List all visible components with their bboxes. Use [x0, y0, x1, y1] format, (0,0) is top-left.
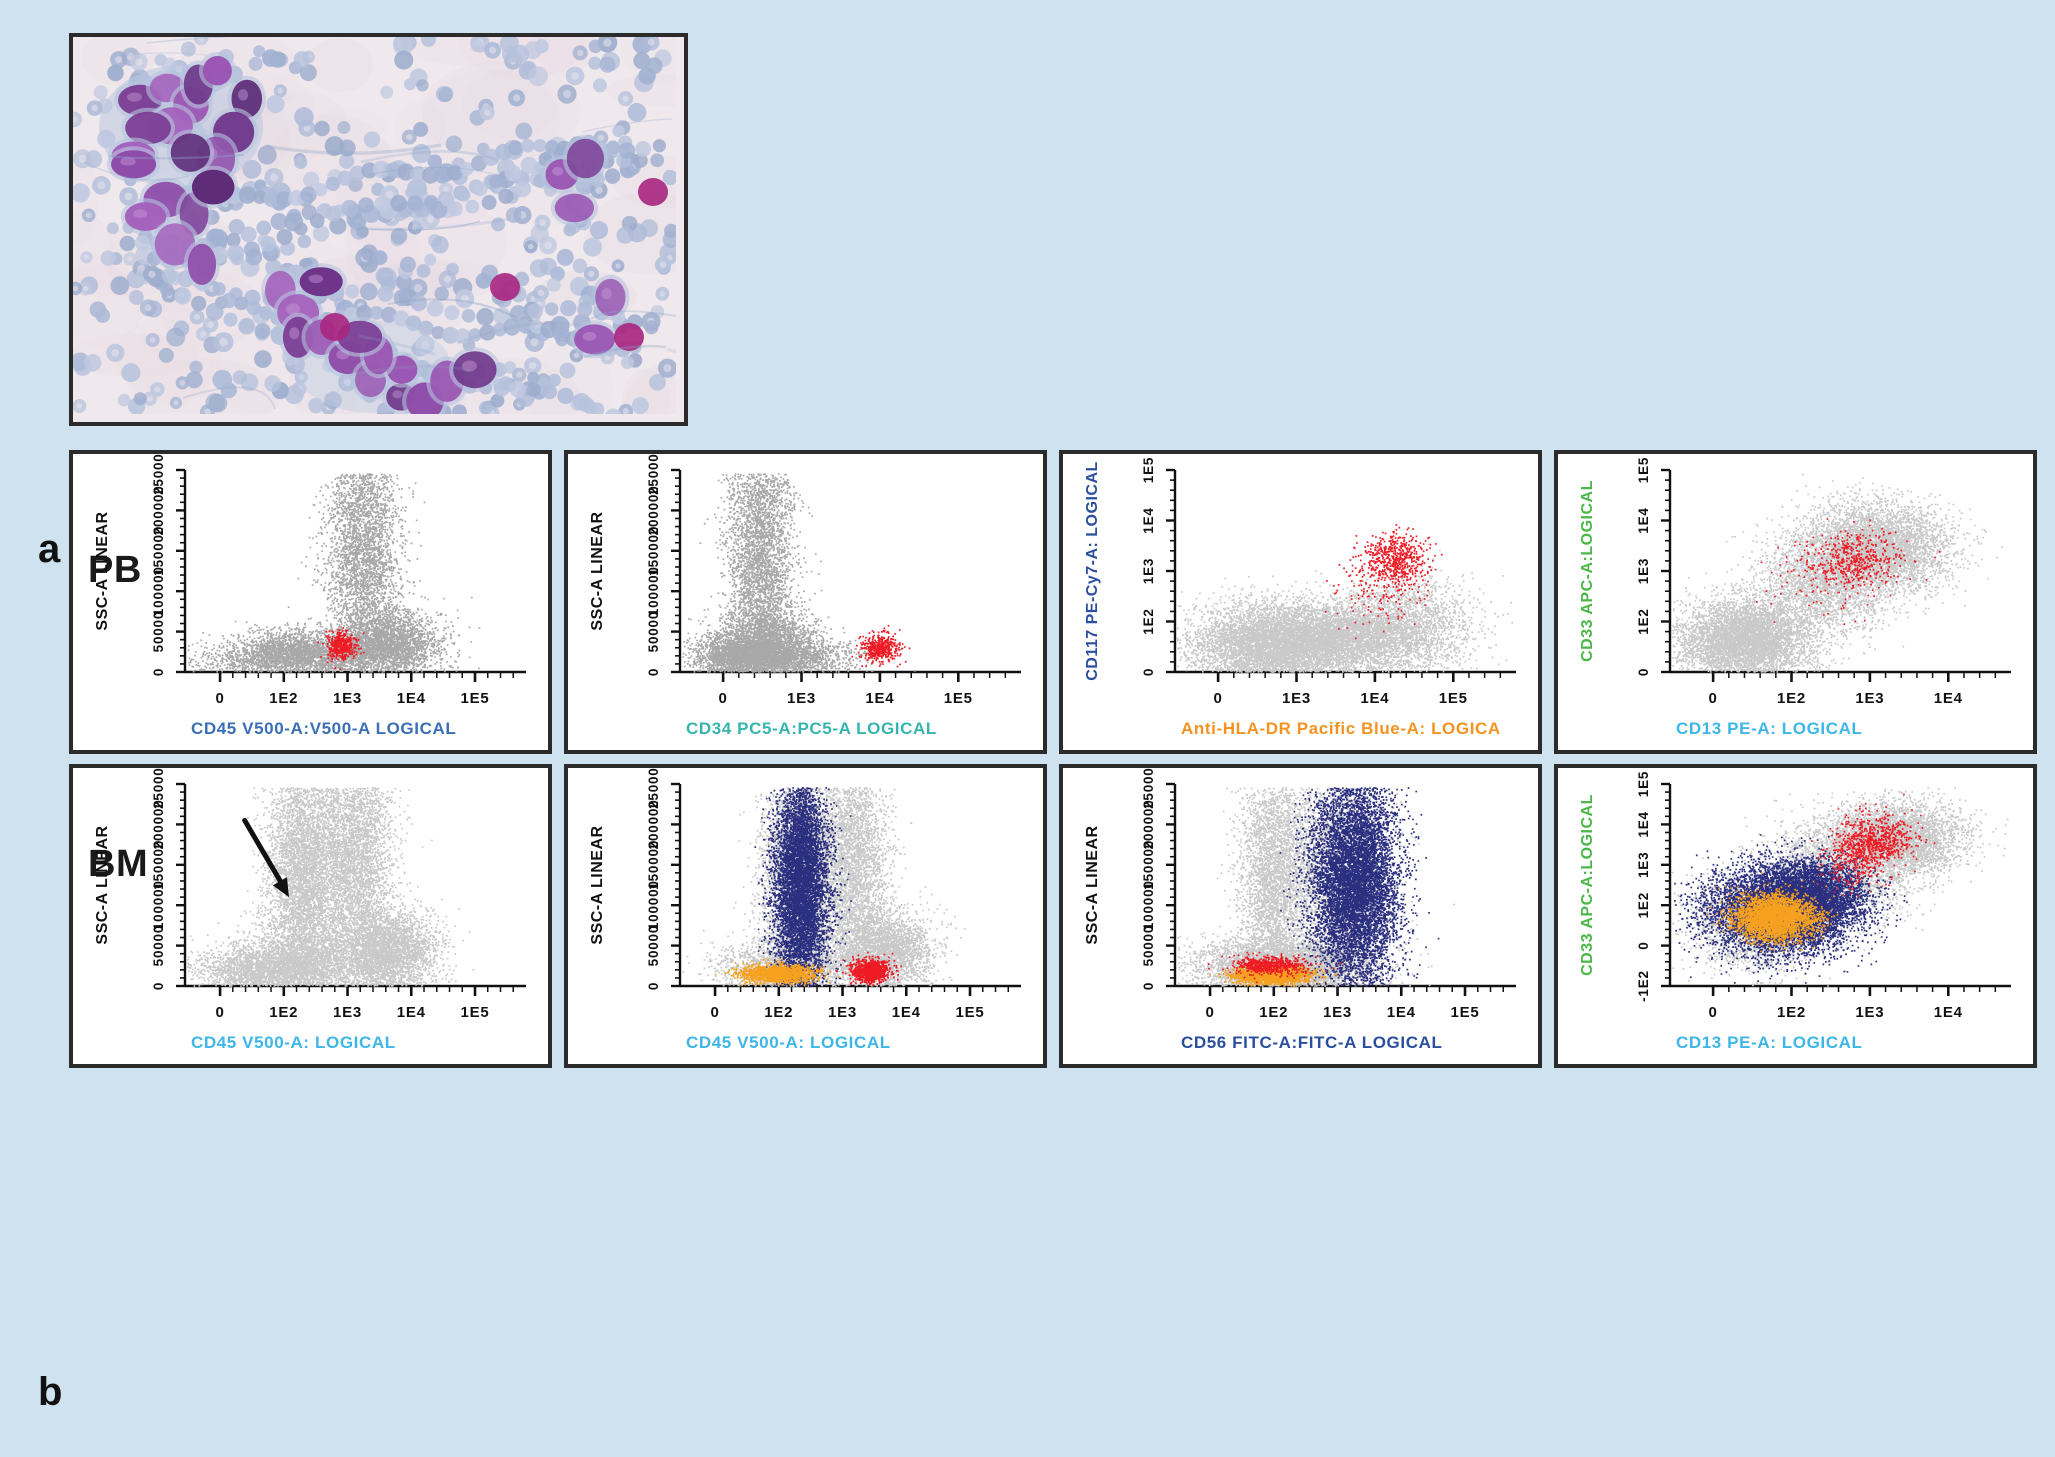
x-axis-label: CD56 FITC-A:FITC-A LOGICAL — [1181, 1033, 1442, 1052]
svg-text:1E4: 1E4 — [1387, 1004, 1416, 1021]
svg-text:1E3: 1E3 — [333, 1004, 362, 1021]
svg-text:1E5: 1E5 — [1636, 771, 1651, 797]
svg-text:1E5: 1E5 — [955, 1004, 984, 1021]
flow-row-bm: BM SSC-A LINEARCD45 V500-A: LOGICAL05000… — [69, 764, 2037, 1068]
micrograph-panel — [69, 33, 688, 426]
svg-text:1E4: 1E4 — [397, 690, 426, 707]
svg-text:1E4: 1E4 — [1636, 507, 1651, 533]
figure-root: a b PB SSC-A LINEARCD45 V500-A:V500-A LO… — [0, 0, 2055, 1457]
svg-text:1E5: 1E5 — [1636, 457, 1651, 483]
svg-text:1E4: 1E4 — [865, 690, 894, 707]
svg-text:1E2: 1E2 — [1141, 608, 1156, 634]
y-axis-label: SSC-A LINEAR — [94, 825, 111, 944]
series-0 — [187, 787, 474, 987]
svg-text:1E3: 1E3 — [333, 690, 362, 707]
svg-text:1E2: 1E2 — [1259, 1004, 1288, 1021]
svg-text:1E2: 1E2 — [1777, 690, 1806, 707]
x-axis-label: CD45 V500-A: LOGICAL — [191, 1033, 396, 1052]
svg-text:1E5: 1E5 — [460, 690, 489, 707]
svg-text:0: 0 — [719, 690, 728, 707]
svg-text:1E3: 1E3 — [1323, 1004, 1352, 1021]
y-axis-label: SSC-A LINEAR — [589, 825, 606, 944]
svg-text:1E2: 1E2 — [269, 1004, 298, 1021]
x-axis-label: CD45 V500-A: LOGICAL — [686, 1033, 891, 1052]
flow-row-pb: PB SSC-A LINEARCD45 V500-A:V500-A LOGICA… — [69, 450, 2037, 754]
y-axis-label: SSC-A LINEAR — [94, 511, 111, 630]
scatter-plot-bm-cd56-ssc: SSC-A LINEARCD56 FITC-A:FITC-A LOGICAL05… — [1063, 768, 1538, 1064]
svg-text:1E5: 1E5 — [1439, 690, 1468, 707]
panel-label-a: a — [38, 527, 60, 572]
x-axis-label: CD13 PE-A: LOGICAL — [1676, 719, 1862, 738]
x-axis-label: Anti-HLA-DR Pacific Blue-A: LOGICA — [1181, 719, 1501, 738]
svg-text:0: 0 — [215, 690, 224, 707]
svg-text:1E3: 1E3 — [1855, 690, 1884, 707]
svg-text:1E5: 1E5 — [1450, 1004, 1479, 1021]
svg-text:1E4: 1E4 — [397, 1004, 426, 1021]
svg-text:1E2: 1E2 — [1777, 1004, 1806, 1021]
svg-text:1E4: 1E4 — [892, 1004, 921, 1021]
y-axis-label: CD117 PE-Cy7-A: LOGICAL — [1084, 461, 1101, 681]
svg-text:1E5: 1E5 — [1141, 457, 1156, 483]
svg-text:250000: 250000 — [1141, 768, 1156, 809]
svg-text:1E5: 1E5 — [944, 690, 973, 707]
flow-panel-bm-1[interactable]: BM SSC-A LINEARCD45 V500-A: LOGICAL05000… — [69, 764, 552, 1068]
svg-text:1E3: 1E3 — [1636, 558, 1651, 584]
svg-text:250000: 250000 — [646, 454, 661, 495]
svg-text:250000: 250000 — [151, 768, 166, 809]
panel-label-b: b — [38, 1370, 62, 1415]
svg-text:1E5: 1E5 — [460, 1004, 489, 1021]
svg-text:1E2: 1E2 — [764, 1004, 793, 1021]
x-axis-label: CD34 PC5-A:PC5-A LOGICAL — [686, 719, 937, 738]
svg-text:0: 0 — [1709, 690, 1718, 707]
flow-panel-pb-4[interactable]: CD33 APC-A:LOGICALCD13 PE-A: LOGICAL01E2… — [1554, 450, 2037, 754]
svg-text:1E4: 1E4 — [1636, 811, 1651, 837]
svg-text:0: 0 — [215, 1004, 224, 1021]
flow-panel-bm-2[interactable]: SSC-A LINEARCD45 V500-A: LOGICAL05000010… — [564, 764, 1047, 1068]
svg-text:0: 0 — [1214, 690, 1223, 707]
series-0 — [1177, 543, 1513, 673]
scatter-plot-pb-cd45-ssc: SSC-A LINEARCD45 V500-A:V500-A LOGICAL05… — [73, 454, 548, 750]
scatter-plot-pb-cd13-cd33: CD33 APC-A:LOGICALCD13 PE-A: LOGICAL01E2… — [1558, 454, 2033, 750]
svg-text:1E4: 1E4 — [1360, 690, 1389, 707]
series-0 — [683, 473, 916, 673]
svg-text:1E3: 1E3 — [1282, 690, 1311, 707]
scatter-plot-pb-hladr-cd117: CD117 PE-Cy7-A: LOGICALAnti-HLA-DR Pacif… — [1063, 454, 1538, 750]
svg-text:0: 0 — [151, 668, 166, 676]
svg-text:0: 0 — [1636, 941, 1651, 949]
flow-panel-bm-3[interactable]: SSC-A LINEARCD56 FITC-A:FITC-A LOGICAL05… — [1059, 764, 1542, 1068]
flow-panel-pb-2[interactable]: SSC-A LINEARCD34 PC5-A:PC5-A LOGICAL0500… — [564, 450, 1047, 754]
svg-text:0: 0 — [1709, 1004, 1718, 1021]
x-axis-label: CD13 PE-A: LOGICAL — [1676, 1033, 1862, 1052]
y-axis-label: CD33 APC-A:LOGICAL — [1579, 794, 1596, 976]
svg-text:0: 0 — [1141, 668, 1156, 676]
svg-text:1E3: 1E3 — [828, 1004, 857, 1021]
scatter-plot-pb-cd34-ssc: SSC-A LINEARCD34 PC5-A:PC5-A LOGICAL0500… — [568, 454, 1043, 750]
x-axis-label: CD45 V500-A:V500-A LOGICAL — [191, 719, 456, 738]
svg-text:1E4: 1E4 — [1141, 507, 1156, 533]
y-axis-label: CD33 APC-A:LOGICAL — [1579, 480, 1596, 662]
scatter-plot-bm-cd45-ssc: SSC-A LINEARCD45 V500-A: LOGICAL05000010… — [73, 768, 548, 1064]
blast-arrow-annotation — [245, 820, 289, 897]
svg-text:0: 0 — [1141, 982, 1156, 990]
svg-text:0: 0 — [646, 668, 661, 676]
y-axis-label: SSC-A LINEAR — [1084, 825, 1101, 944]
svg-text:1E3: 1E3 — [787, 690, 816, 707]
scatter-plot-bm-cd45-ssc-gated: SSC-A LINEARCD45 V500-A: LOGICAL05000010… — [568, 768, 1043, 1064]
svg-text:0: 0 — [151, 982, 166, 990]
svg-text:-1E2: -1E2 — [1636, 970, 1651, 1002]
svg-text:250000: 250000 — [151, 454, 166, 495]
svg-text:1E3: 1E3 — [1636, 852, 1651, 878]
svg-text:0: 0 — [710, 1004, 719, 1021]
svg-text:0: 0 — [1205, 1004, 1214, 1021]
flow-panel-bm-4[interactable]: CD33 APC-A:LOGICALCD13 PE-A: LOGICAL-1E2… — [1554, 764, 2037, 1068]
svg-text:0: 0 — [1636, 668, 1651, 676]
flow-panel-pb-3[interactable]: CD117 PE-Cy7-A: LOGICALAnti-HLA-DR Pacif… — [1059, 450, 1542, 754]
y-axis-label: SSC-A LINEAR — [589, 511, 606, 630]
svg-text:250000: 250000 — [646, 768, 661, 809]
svg-text:1E2: 1E2 — [269, 690, 298, 707]
svg-text:1E2: 1E2 — [1636, 892, 1651, 918]
series-0 — [1672, 474, 2003, 673]
svg-text:0: 0 — [646, 982, 661, 990]
flow-panel-pb-1[interactable]: PB SSC-A LINEARCD45 V500-A:V500-A LOGICA… — [69, 450, 552, 754]
svg-text:1E2: 1E2 — [1636, 608, 1651, 634]
svg-text:1E4: 1E4 — [1934, 690, 1963, 707]
svg-text:1E3: 1E3 — [1855, 1004, 1884, 1021]
micrograph-image — [73, 37, 676, 414]
svg-text:1E4: 1E4 — [1934, 1004, 1963, 1021]
svg-text:1E3: 1E3 — [1141, 558, 1156, 584]
scatter-plot-bm-cd13-cd33: CD33 APC-A:LOGICALCD13 PE-A: LOGICAL-1E2… — [1558, 768, 2033, 1064]
